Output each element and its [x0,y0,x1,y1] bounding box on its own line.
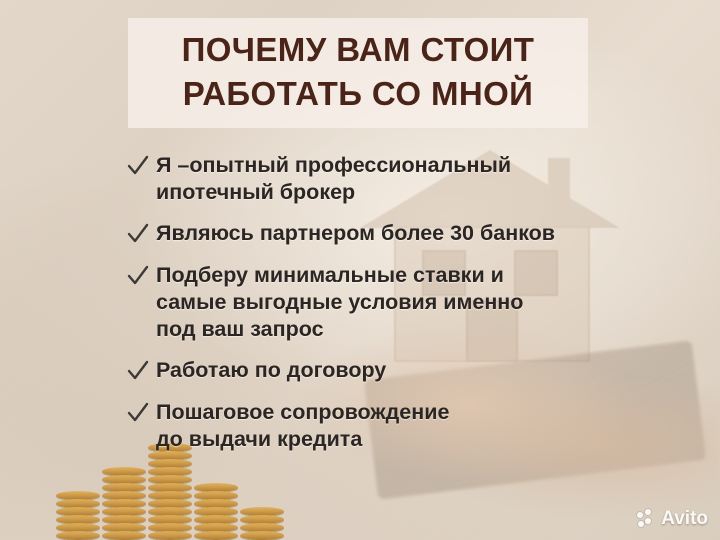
benefit-text: Я –опытный профессиональный ипотечный бр… [156,152,511,206]
benefit-text: Работаю по договору [156,357,386,384]
avito-watermark-label: Avito [661,508,708,530]
title-line-2: РАБОТАТЬ СО МНОЙ [142,72,574,116]
coin-stack [194,484,238,540]
check-icon [126,264,150,292]
coin-stack [102,468,146,540]
check-icon [126,401,150,429]
benefit-item: Я –опытный профессиональный ипотечный бр… [126,152,666,206]
avito-watermark: Avito [637,508,708,530]
poster-title: ПОЧЕМУ ВАМ СТОИТ РАБОТАТЬ СО МНОЙ [128,18,588,128]
avito-logo-icon [637,509,657,529]
poster-image: ПОЧЕМУ ВАМ СТОИТ РАБОТАТЬ СО МНОЙ Я –опы… [0,0,720,540]
title-line-1: ПОЧЕМУ ВАМ СТОИТ [142,28,574,72]
check-icon [126,154,150,182]
benefit-item: Пошаговое сопровождение до выдачи кредит… [126,399,666,453]
benefit-text: Пошаговое сопровождение до выдачи кредит… [156,399,449,453]
coin-stack [240,508,284,540]
benefit-item: Работаю по договору [126,357,666,385]
coin-stack [56,492,100,540]
benefit-text: Подберу минимальные ставки и самые выгод… [156,262,523,343]
benefit-text: Являюсь партнером более 30 банков [156,220,555,247]
check-icon [126,222,150,250]
check-icon [126,359,150,387]
benefit-item: Подберу минимальные ставки и самые выгод… [126,262,666,343]
benefit-item: Являюсь партнером более 30 банков [126,220,666,248]
benefits-list: Я –опытный профессиональный ипотечный бр… [126,152,666,467]
